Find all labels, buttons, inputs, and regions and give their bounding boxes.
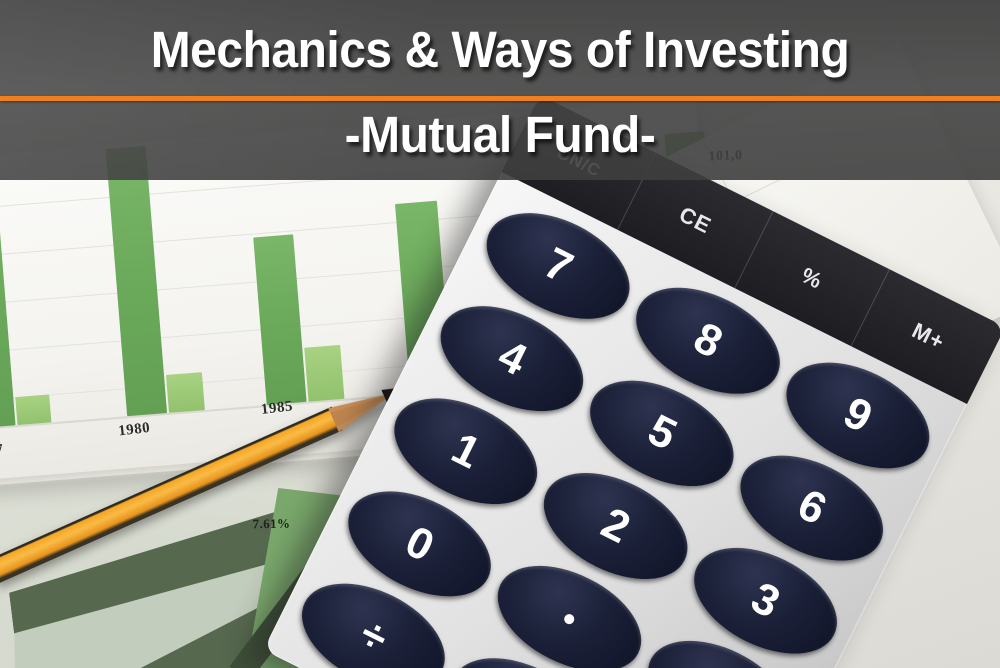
bar-chart-year-label: 1977: [0, 442, 4, 463]
page-title: Mechanics & Ways of Investing: [30, 24, 970, 75]
header-band: Mechanics & Ways of Investing -Mutual Fu…: [0, 0, 1000, 180]
bar-chart-year-label: 1980: [117, 420, 151, 441]
banner-image: 1977 1980 1985 1990 1995 2000 20,00 101,…: [0, 0, 1000, 668]
calculator-key-label: %: [798, 264, 826, 293]
bar-chart-year-label: 1985: [260, 398, 294, 419]
pie-slice-label: 7.61%: [252, 516, 290, 533]
calculator-key-label: CE: [676, 203, 715, 237]
accent-divider: [0, 96, 1000, 101]
page-subtitle: -Mutual Fund-: [30, 109, 970, 160]
calculator-key-label: M+: [909, 319, 949, 353]
